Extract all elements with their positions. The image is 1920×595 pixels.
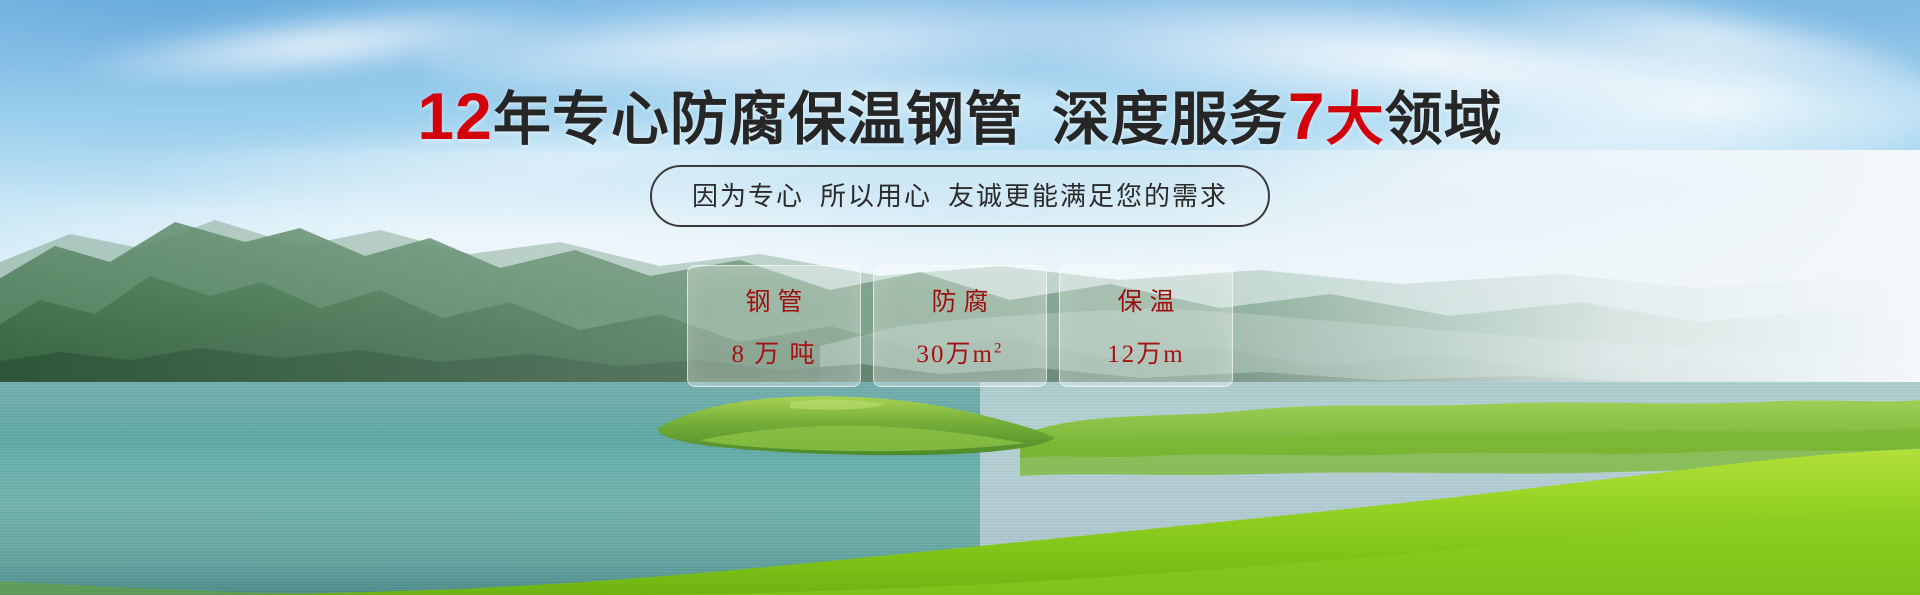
stat-value-text: 30万m: [917, 341, 994, 368]
stat-value-text: 12万m: [1107, 341, 1184, 368]
hero-banner: 12年专心防腐保温钢管深度服务7大领域 因为专心所以用心友诚更能满足您的需求 钢…: [0, 0, 1920, 595]
stat-card-title: 保温: [1110, 282, 1181, 318]
headline-part3-text: 领域: [1385, 87, 1503, 152]
banner-content: 12年专心防腐保温钢管深度服务7大领域 因为专心所以用心友诚更能满足您的需求 钢…: [0, 0, 1920, 595]
stat-card-value: 30万m2: [917, 334, 1004, 370]
stat-value-superscript: 2: [994, 341, 1004, 357]
headline-part1-text: 年专心防腐保温钢管: [493, 87, 1024, 152]
banner-headline: 12年专心防腐保温钢管深度服务7大领域: [0, 82, 1920, 151]
headline-part2-text: 深度服务: [1052, 87, 1288, 152]
stat-card-title: 防腐: [924, 282, 995, 318]
stat-card-group: 钢管 8 万 吨 防腐 30万m2 保温 12万m: [687, 265, 1233, 387]
stat-card-insulation: 保温 12万m: [1059, 265, 1233, 387]
stat-card-title: 钢管: [738, 282, 809, 318]
headline-fields-suffix: 大: [1326, 87, 1385, 152]
headline-years-number: 12: [417, 79, 492, 153]
subtitle-phrase-3: 友诚更能满足您的需求: [948, 181, 1228, 211]
stat-card-anticorrosion: 防腐 30万m2: [873, 265, 1047, 387]
stat-card-value: 8 万 吨: [731, 334, 816, 370]
stat-value-text: 8 万 吨: [731, 341, 816, 368]
subtitle-phrase-2: 所以用心: [820, 181, 932, 211]
headline-fields-number: 7: [1288, 79, 1326, 153]
subtitle-phrase-1: 因为专心: [692, 181, 804, 211]
banner-subtitle-pill: 因为专心所以用心友诚更能满足您的需求: [650, 165, 1270, 227]
stat-card-value: 12万m: [1107, 334, 1184, 370]
stat-card-steel-pipe: 钢管 8 万 吨: [687, 265, 861, 387]
